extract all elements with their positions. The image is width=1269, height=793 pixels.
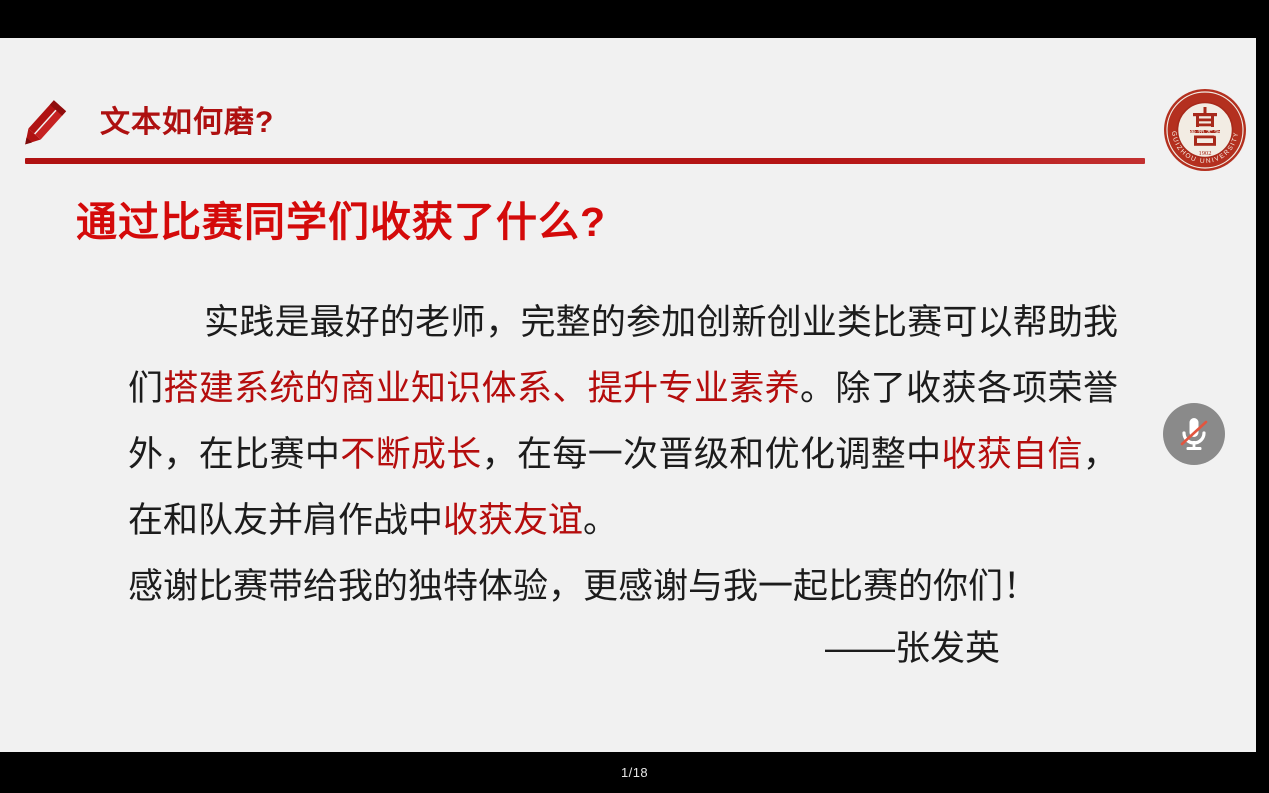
body-segment-highlight: 提升专业素养: [588, 369, 800, 408]
mic-muted-icon: [1163, 403, 1225, 465]
section-headline: 通过比赛同学们收获了什么?: [76, 198, 606, 247]
svg-text:1902: 1902: [1199, 150, 1212, 157]
presentation-viewer[interactable]: 文本如何磨?: [0, 0, 1269, 793]
pencil-icon: [10, 94, 72, 156]
page-indicator: 1/18: [621, 765, 648, 780]
body-segment-highlight: 收获: [941, 435, 1012, 474]
body-segment-plain: 、: [552, 369, 587, 408]
letterbox-right: [1256, 38, 1269, 752]
attribution-line: ——张发英: [128, 616, 1118, 682]
closing-text: 感谢比赛带给我的独特体验，更感谢与我一起比赛的你们！: [128, 567, 1038, 606]
slide-header: 文本如何磨?: [0, 38, 1256, 136]
page-title: 文本如何磨?: [100, 108, 274, 138]
body-segment-highlight: 不断成长: [340, 435, 481, 474]
guizhou-university-logo: 贵州大学 GUIZHOU UNIVERSITY 1902: [1160, 85, 1250, 175]
body-segment-plain: 实践是最好的老师，完整的参加创新创业类比赛可以帮助: [204, 303, 1083, 342]
slide-canvas[interactable]: 文本如何磨?: [0, 38, 1256, 752]
body-segment-plain: 。: [583, 501, 618, 540]
body-segment-highlight: 收获友谊: [443, 501, 583, 540]
body-segment-highlight: 自信: [1012, 435, 1083, 474]
body-segment-highlight: 搭建系统的商业知识体系: [163, 369, 552, 408]
status-bar: 1/18: [0, 752, 1269, 793]
body-segment-plain: ，在每一次晋级和优化调整中: [482, 435, 942, 474]
closing-paragraph: 感谢比赛带给我的独特体验，更感谢与我一起比赛的你们！: [128, 554, 1118, 620]
mic-mute-toggle[interactable]: [1163, 403, 1225, 465]
body-paragraph: 实践是最好的老师，完整的参加创新创业类比赛可以帮助我们搭建系统的商业知识体系、提…: [128, 290, 1118, 554]
title-divider: [25, 158, 1145, 164]
body-segment-plain: 。除了收获各项: [800, 369, 1048, 408]
body-text-block: 实践是最好的老师，完整的参加创新创业类比赛可以帮助我们搭建系统的商业知识体系、提…: [128, 290, 1118, 554]
